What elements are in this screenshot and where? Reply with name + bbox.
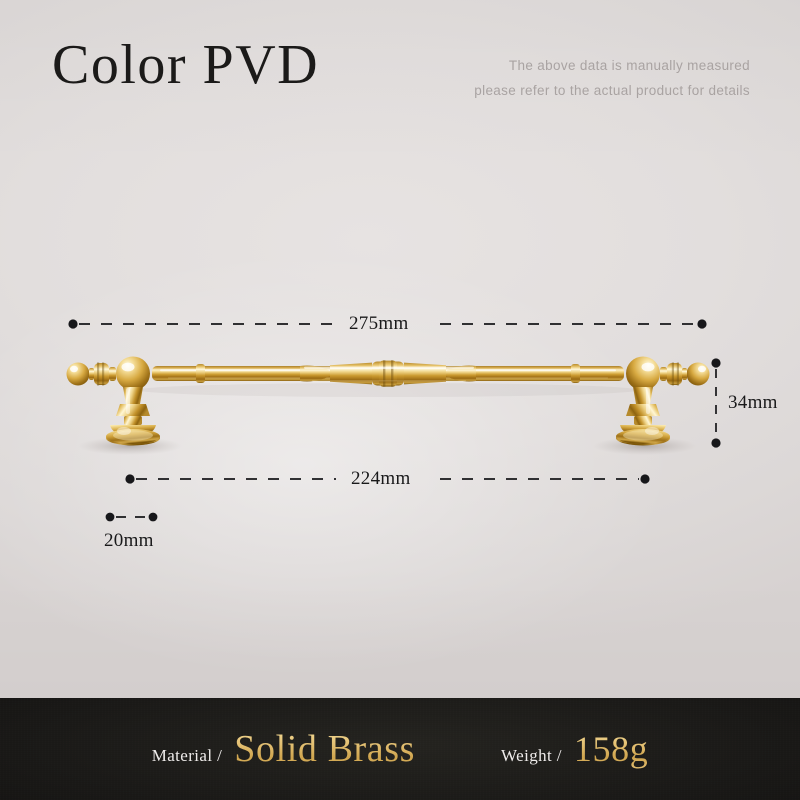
dim-label-base-width: 20mm [104,530,154,552]
dim-line-base-width [106,513,158,522]
page-title: Color PVD [52,36,319,95]
product-image [0,330,800,470]
material-value: Solid Brass [234,727,415,771]
dim-line-overall-length [68,319,706,328]
right-end-assembly [616,357,710,446]
disclaimer-line-2: please refer to the actual product for d… [474,79,750,104]
brass-handle-illustration [0,330,800,470]
weight-value: 158g [574,728,648,770]
material-label: Material / [152,746,223,766]
product-spec-card: Color PVD The above data is manually mea… [0,0,800,800]
weight-spec: Weight / 158g [501,728,648,770]
disclaimer-line-1: The above data is manually measured [474,54,750,79]
left-end-assembly [67,357,161,446]
weight-label: Weight / [501,746,562,766]
spec-bar: Material / Solid Brass Weight / 158g [0,698,800,800]
disclaimer-note: The above data is manually measured plea… [474,54,750,104]
dim-line-center-to-center [125,474,649,483]
center-spindle [300,360,476,387]
material-spec: Material / Solid Brass [152,727,415,771]
dim-label-center-to-center: 224mm [351,468,411,490]
